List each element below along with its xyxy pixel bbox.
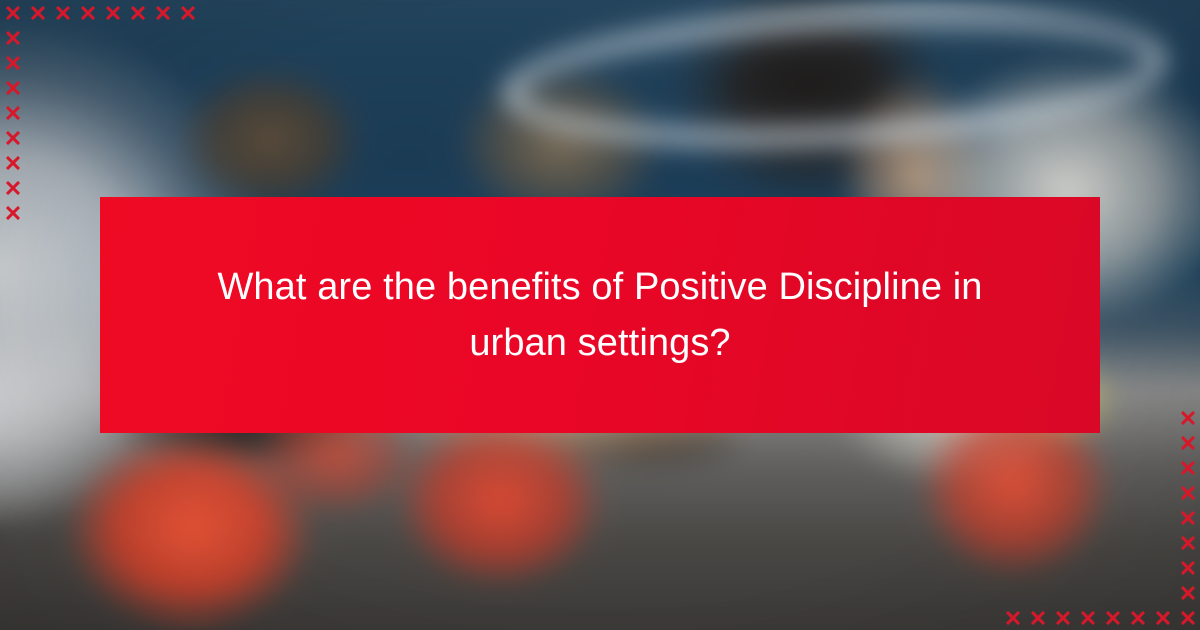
page-title: What are the benefits of Positive Discip… [205, 259, 995, 371]
share-card: What are the benefits of Positive Discip… [0, 0, 1200, 630]
title-banner: What are the benefits of Positive Discip… [100, 197, 1100, 433]
